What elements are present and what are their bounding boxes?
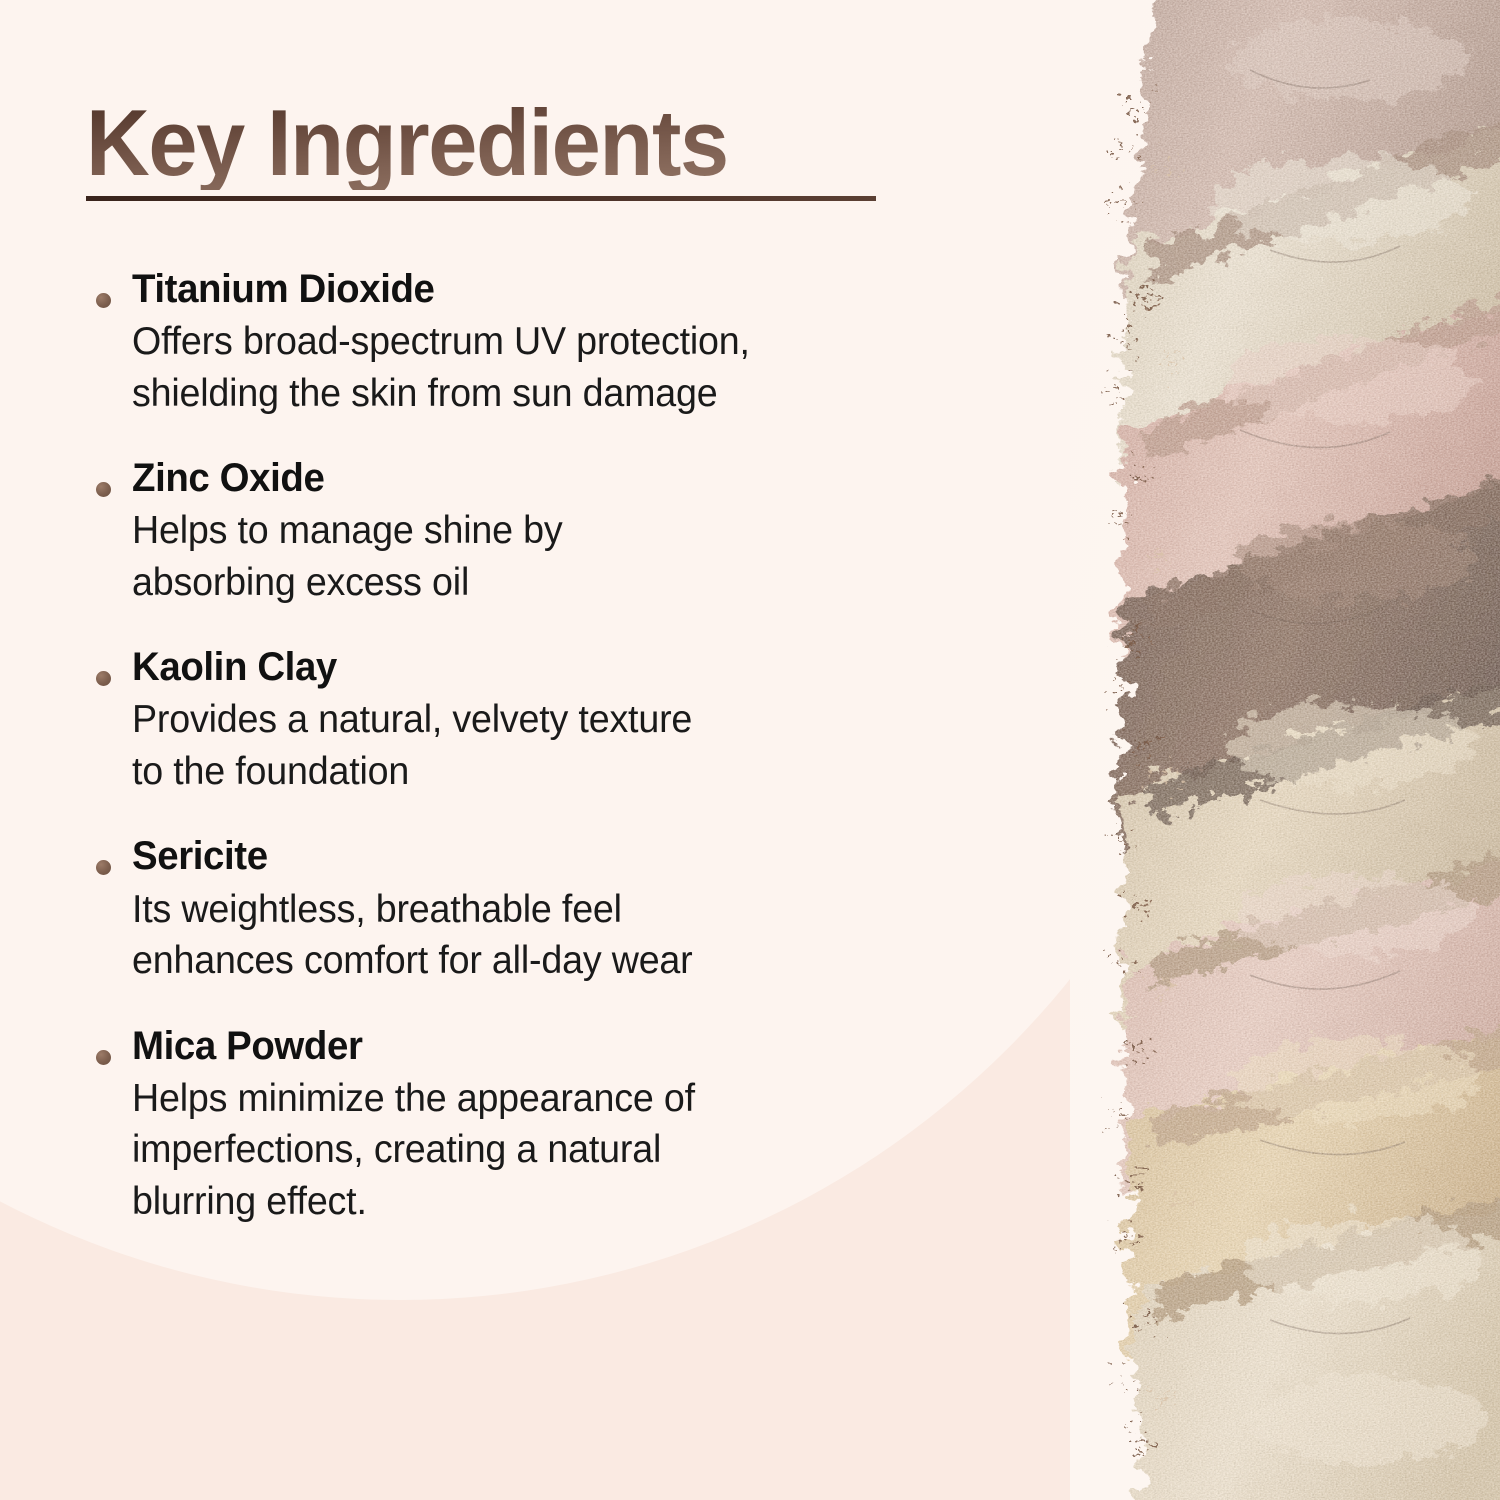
description-line: Provides a natural, velvety texture — [132, 694, 962, 745]
ingredient-description: Helps minimize the appearance of imperfe… — [132, 1073, 962, 1227]
description-line: Its weightless, breathable feel — [132, 884, 962, 935]
description-line: to the foundation — [132, 746, 962, 797]
dot-icon — [96, 482, 111, 497]
list-item: Mica Powder Helps minimize the appearanc… — [92, 1023, 992, 1228]
ingredient-description: Helps to manage shine by absorbing exces… — [132, 505, 962, 608]
ingredient-name: Zinc Oxide — [132, 455, 958, 502]
ingredient-description: Its weightless, breathable feel enhances… — [132, 884, 962, 987]
dot-icon — [96, 671, 111, 686]
powder-swatch-image — [1100, 0, 1500, 1500]
list-item: Kaolin Clay Provides a natural, velvety … — [92, 644, 992, 797]
description-line: Helps minimize the appearance of — [132, 1073, 962, 1124]
page-title-block: Key Ingredients — [86, 96, 906, 201]
title-underline — [86, 196, 876, 201]
page-title: Key Ingredients — [86, 96, 857, 190]
description-line: Offers broad-spectrum UV protection, — [132, 316, 962, 367]
description-line: enhances comfort for all-day wear — [132, 935, 962, 986]
ingredient-name: Titanium Dioxide — [132, 266, 958, 313]
dot-icon — [96, 1050, 111, 1065]
ingredient-name: Sericite — [132, 833, 958, 880]
dot-icon — [96, 860, 111, 875]
key-ingredients-graphic: Key Ingredients Titanium Dioxide Offers … — [0, 0, 1500, 1500]
description-line: shielding the skin from sun damage — [132, 368, 962, 419]
description-line: Helps to manage shine by — [132, 505, 962, 556]
ingredient-name: Mica Powder — [132, 1023, 958, 1070]
description-line: absorbing excess oil — [132, 557, 962, 608]
list-item: Sericite Its weightless, breathable feel… — [92, 833, 992, 986]
ingredient-list: Titanium Dioxide Offers broad-spectrum U… — [92, 266, 992, 1227]
description-line: imperfections, creating a natural — [132, 1124, 962, 1175]
list-item: Titanium Dioxide Offers broad-spectrum U… — [92, 266, 992, 419]
dot-icon — [96, 293, 111, 308]
ingredient-description: Offers broad-spectrum UV protection, shi… — [132, 316, 962, 419]
ingredient-description: Provides a natural, velvety texture to t… — [132, 694, 962, 797]
list-item: Zinc Oxide Helps to manage shine by abso… — [92, 455, 992, 608]
ingredient-name: Kaolin Clay — [132, 644, 958, 691]
description-line: blurring effect. — [132, 1176, 962, 1227]
